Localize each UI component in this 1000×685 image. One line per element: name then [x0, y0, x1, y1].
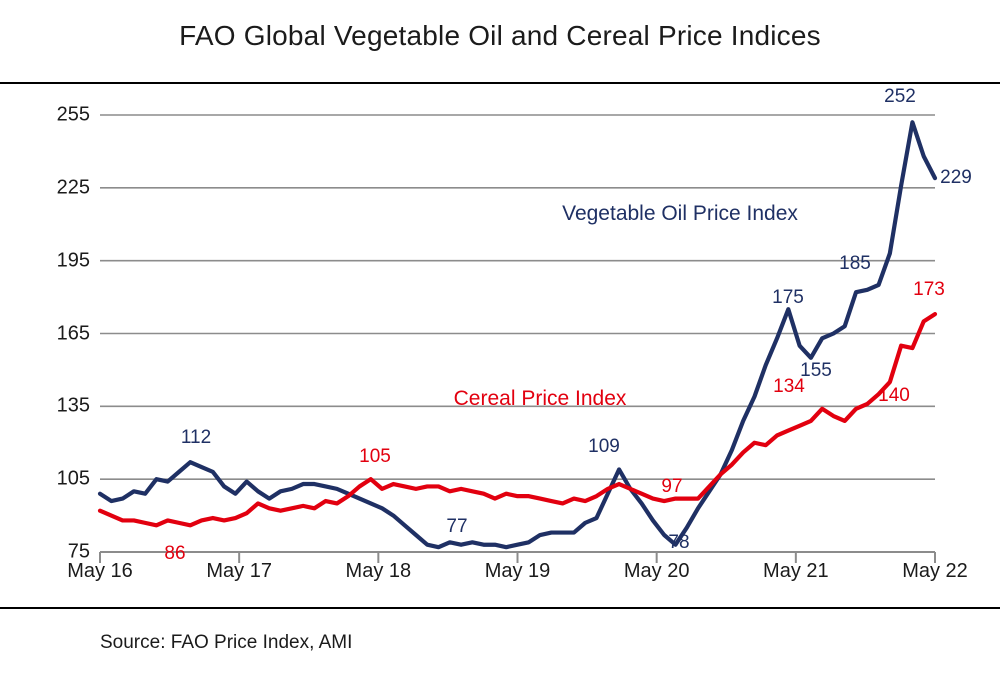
- series-annotation-label: Cereal Price Index: [454, 387, 627, 411]
- x-axis-tick-label: May 16: [35, 560, 165, 583]
- data-point-label: 77: [446, 516, 467, 538]
- x-axis-tick-label: May 19: [453, 560, 583, 583]
- data-point-label: 78: [668, 532, 689, 554]
- y-axis-tick-label: 225: [28, 176, 90, 199]
- page-title: FAO Global Vegetable Oil and Cereal Pric…: [0, 20, 1000, 52]
- chart-page: FAO Global Vegetable Oil and Cereal Pric…: [0, 0, 1000, 685]
- x-axis-tick-label: May 21: [731, 560, 861, 583]
- line-chart-svg: [0, 82, 1000, 607]
- data-point-label: 112: [181, 427, 211, 449]
- series-line-vegetable-oil: [100, 122, 935, 547]
- data-point-label: 140: [878, 385, 910, 407]
- data-point-label: 175: [772, 287, 804, 309]
- data-point-label: 173: [913, 279, 945, 301]
- data-point-label: 105: [359, 446, 391, 468]
- chart-plot-area: [0, 82, 1000, 607]
- y-axis-tick-label: 255: [28, 104, 90, 127]
- series-line-cereal: [100, 314, 935, 525]
- data-point-label: 86: [164, 543, 185, 565]
- data-point-label: 229: [940, 167, 972, 189]
- data-point-label: 97: [661, 476, 682, 498]
- data-point-label: 109: [588, 436, 620, 458]
- x-axis-tick-label: May 18: [313, 560, 443, 583]
- y-axis-tick-label: 135: [28, 395, 90, 418]
- x-axis-tick-label: May 17: [174, 560, 304, 583]
- y-axis-tick-label: 105: [28, 468, 90, 491]
- y-axis-tick-label: 165: [28, 322, 90, 345]
- x-axis-tick-label: May 22: [870, 560, 1000, 583]
- y-axis-tick-label: 195: [28, 249, 90, 272]
- source-note: Source: FAO Price Index, AMI: [100, 632, 352, 654]
- data-point-label: 134: [773, 376, 805, 398]
- series-lines-group: [100, 122, 935, 547]
- data-point-label: 252: [884, 86, 916, 108]
- x-axis-tick-label: May 20: [592, 560, 722, 583]
- series-annotation-label: Vegetable Oil Price Index: [562, 202, 798, 226]
- divider-bottom: [0, 607, 1000, 609]
- data-point-label: 185: [839, 253, 871, 275]
